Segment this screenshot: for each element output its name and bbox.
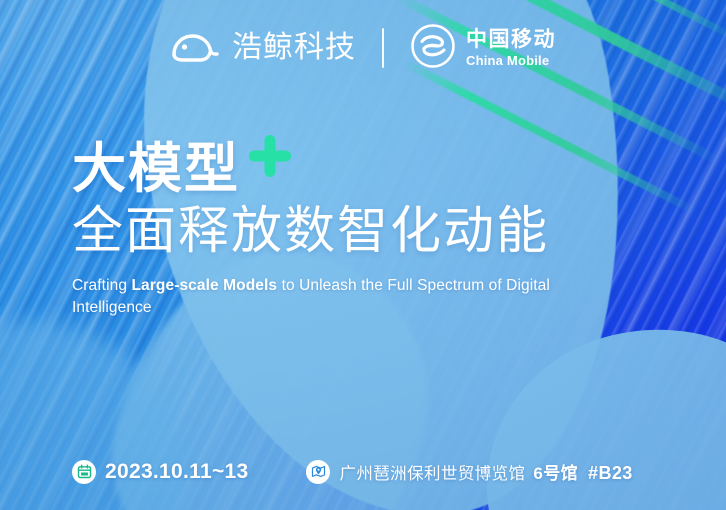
whale-logo-icon <box>170 29 222 68</box>
event-venue-item: 广州琶洲保利世贸博览馆6号馆#B23 <box>306 459 632 484</box>
headline-line-2: 全面释放数智化动能 <box>72 202 672 259</box>
logo-bar: 浩鲸科技 中国移动 China Mobile <box>0 22 726 74</box>
headline-subtitle: Crafting Large-scale Models to Unleash t… <box>72 275 582 319</box>
china-mobile-swirl-icon <box>410 23 456 74</box>
headline-line-1: 大模型 <box>72 142 672 196</box>
headline-primary-text: 大模型 <box>72 142 240 196</box>
partner-name-block: 中国移动 China Mobile <box>466 29 556 67</box>
event-venue-label: 广州琶洲保利世贸博览馆6号馆#B23 <box>339 459 632 484</box>
event-date-item: 2023.10.11~13 <box>72 460 248 484</box>
brand-logo: 浩鲸科技 <box>170 29 356 68</box>
partner-logo: 中国移动 China Mobile <box>410 23 556 74</box>
subtitle-part-1: Crafting <box>72 277 131 294</box>
promo-banner: 浩鲸科技 中国移动 China Mobile <box>0 0 726 510</box>
venue-hall: 6号馆 <box>533 464 578 483</box>
partner-name-en: China Mobile <box>466 54 556 67</box>
brand-name-label: 浩鲸科技 <box>232 33 356 63</box>
logo-divider <box>382 28 384 68</box>
calendar-icon <box>72 460 96 484</box>
headline-block: 大模型 全面释放数智化动能 Crafting Large-scale Model… <box>72 142 672 319</box>
event-date-label: 2023.10.11~13 <box>105 460 248 484</box>
banner-content: 浩鲸科技 中国移动 China Mobile <box>0 0 726 510</box>
subtitle-emphasis: Large-scale Models <box>131 277 277 294</box>
partner-name-cn: 中国移动 <box>466 29 556 50</box>
plus-symbol-icon <box>244 130 296 186</box>
venue-booth: #B23 <box>588 463 633 483</box>
venue-name: 广州琶洲保利世贸博览馆 <box>339 465 525 483</box>
footer-info: 2023.10.11~13 广州琶洲保利世贸博览馆6号馆#B23 <box>72 459 633 484</box>
map-location-icon <box>306 460 330 484</box>
